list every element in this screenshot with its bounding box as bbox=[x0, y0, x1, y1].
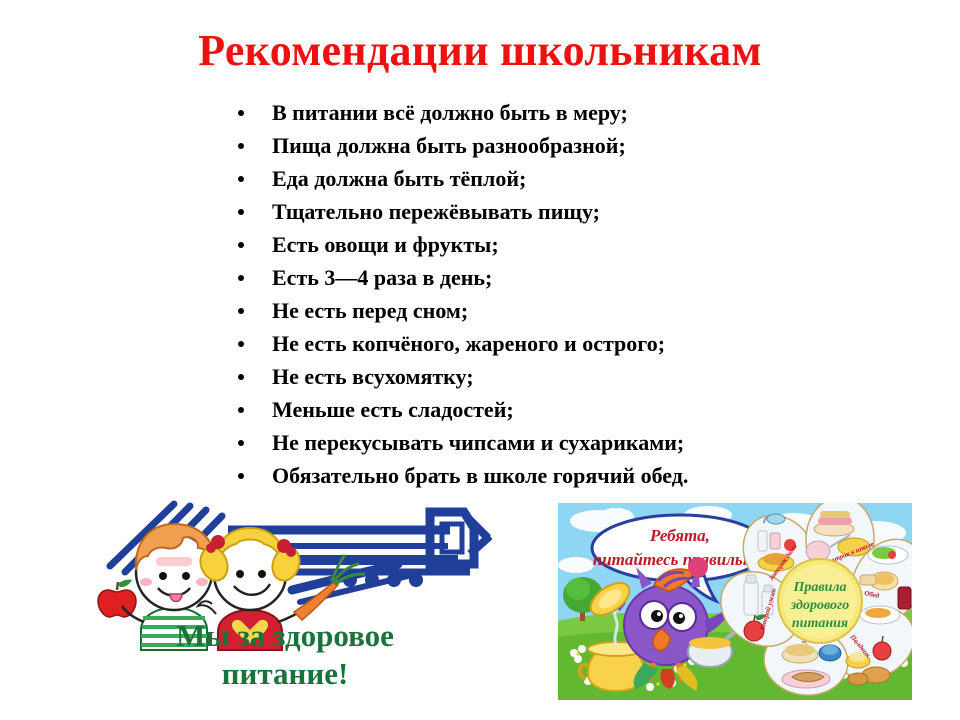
kids-healthy-eating-image: Мы за здоровое питание! bbox=[78, 494, 492, 700]
flower-center-line2: здорового bbox=[790, 598, 849, 613]
list-item: Не есть всухомятку; bbox=[236, 360, 876, 393]
list-item-label: Не перекусывать чипсами и сухариками; bbox=[272, 430, 684, 455]
owl-healthy-eating-image: Ребята, питайтесь правильно! bbox=[558, 503, 912, 700]
bullet-dot-icon bbox=[238, 374, 244, 380]
bullet-dot-icon bbox=[238, 308, 244, 314]
list-item: В питании всё должно быть в меру; bbox=[236, 96, 876, 129]
flower-center-line1: Правила bbox=[792, 580, 846, 595]
bullet-dot-icon bbox=[238, 407, 244, 413]
list-item: Не перекусывать чипсами и сухариками; bbox=[236, 426, 876, 459]
list-item: Обязательно брать в школе горячий обед. bbox=[236, 459, 876, 492]
list-item-label: Не есть всухомятку; bbox=[272, 364, 474, 389]
bullet-dot-icon bbox=[238, 209, 244, 215]
list-item: Есть овощи и фрукты; bbox=[236, 228, 876, 261]
list-item-label: Не есть копчёного, жареного и острого; bbox=[272, 331, 665, 356]
list-item: Пища должна быть разнообразной; bbox=[236, 129, 876, 162]
list-item: Тщательно пережёвывать пищу; bbox=[236, 195, 876, 228]
list-item-label: Меньше есть сладостей; bbox=[272, 397, 514, 422]
list-item-label: Пища должна быть разнообразной; bbox=[272, 133, 626, 158]
list-item-label: В питании всё должно быть в меру; bbox=[272, 100, 628, 125]
list-item: Не есть перед сном; bbox=[236, 294, 876, 327]
kids-slogan-line2: питание! bbox=[222, 656, 349, 691]
list-item-label: Есть овощи и фрукты; bbox=[272, 232, 499, 257]
list-item-label: Обязательно брать в школе горячий обед. bbox=[272, 463, 688, 488]
list-item-label: Не есть перед сном; bbox=[272, 298, 468, 323]
bullet-dot-icon bbox=[238, 440, 244, 446]
bullet-dot-icon bbox=[238, 473, 244, 479]
bullet-dot-icon bbox=[238, 143, 244, 149]
list-item-label: Есть 3—4 раза в день; bbox=[272, 265, 492, 290]
bullet-dot-icon bbox=[238, 176, 244, 182]
page-title: Рекомендации школьникам bbox=[0, 26, 960, 76]
list-item: Не есть копчёного, жареного и острого; bbox=[236, 327, 876, 360]
bullet-dot-icon bbox=[238, 110, 244, 116]
speech-line1: Ребята, bbox=[649, 526, 710, 545]
bullet-dot-icon bbox=[238, 275, 244, 281]
kids-slogan-line1: Мы за здоровое bbox=[176, 618, 394, 653]
flower-center-line3: питания bbox=[792, 616, 848, 631]
list-item: Есть 3—4 раза в день; bbox=[236, 261, 876, 294]
bullet-dot-icon bbox=[238, 242, 244, 248]
recommendations-list: В питании всё должно быть в меру; Пища д… bbox=[236, 96, 876, 492]
slide-canvas: Рекомендации школьникам В питании всё до… bbox=[0, 0, 960, 720]
bullet-dot-icon bbox=[238, 341, 244, 347]
list-item: Еда должна быть тёплой; bbox=[236, 162, 876, 195]
speech-line2: питайтесь правильно! bbox=[593, 550, 768, 569]
list-item-label: Еда должна быть тёплой; bbox=[272, 166, 526, 191]
list-item: Меньше есть сладостей; bbox=[236, 393, 876, 426]
list-item-label: Тщательно пережёвывать пищу; bbox=[272, 199, 600, 224]
